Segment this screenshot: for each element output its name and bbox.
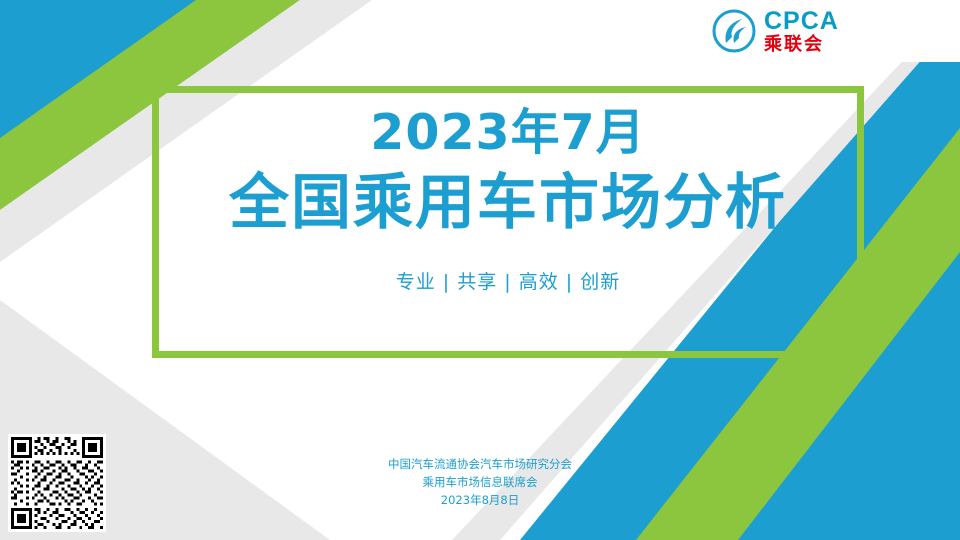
footer-line-3: 2023年8月8日 (0, 492, 960, 510)
footer-block: 中国汽车流通协会汽车市场研究分会 乘用车市场信息联席会 2023年8月8日 (0, 456, 960, 509)
logo-abbr: CPCA (764, 9, 839, 34)
page-title-main: 全国乘用车市场分析 (229, 166, 787, 241)
cpca-emblem-icon (712, 9, 756, 53)
footer-line-2: 乘用车市场信息联席会 (0, 474, 960, 492)
footer-line-1: 中国汽车流通协会汽车市场研究分会 (0, 456, 960, 474)
logo-text-block: CPCA 乘联会 (764, 9, 839, 54)
qr-code-icon (8, 434, 106, 532)
title-tagline: 专业 | 共享 | 高效 | 创新 (396, 267, 620, 294)
cpca-logo: CPCA 乘联会 (698, 0, 960, 62)
title-block: 2023年7月 全国乘用车市场分析 专业 | 共享 | 高效 | 创新 (152, 86, 864, 358)
presentation-slide: CPCA 乘联会 2023年7月 全国乘用车市场分析 专业 | 共享 | 高效 … (0, 0, 960, 540)
page-title-date: 2023年7月 (370, 106, 645, 160)
logo-name-cn: 乘联会 (764, 36, 839, 54)
